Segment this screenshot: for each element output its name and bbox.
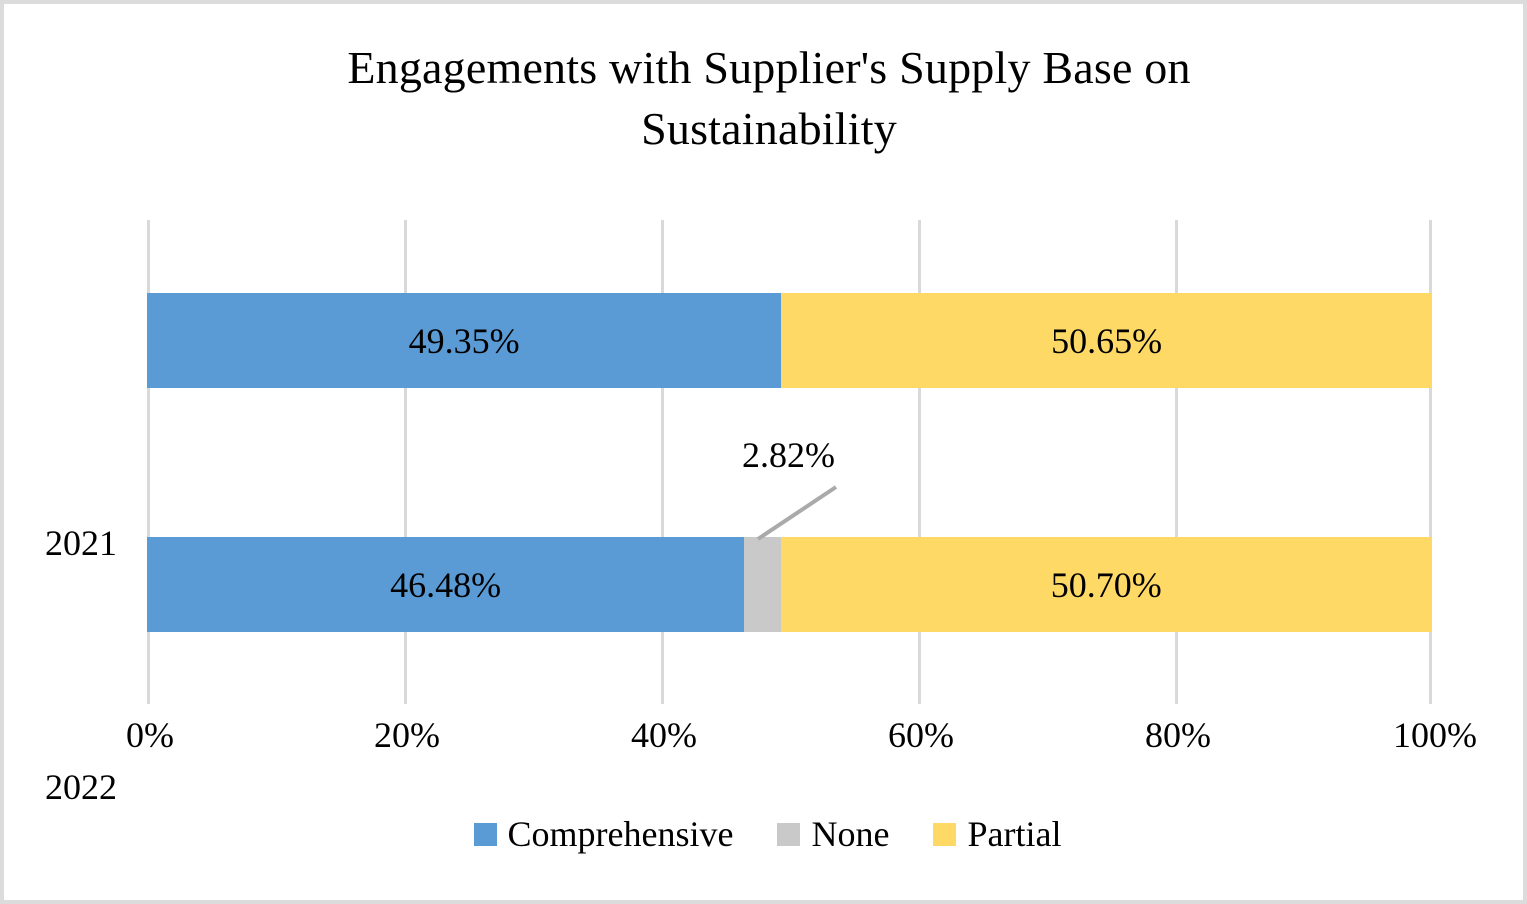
bar-label-2021-comprehensive: 49.35% [409, 323, 520, 359]
legend-item-partial[interactable]: Partial [933, 816, 1061, 852]
x-tick-label-20: 20% [327, 716, 487, 756]
chart-title: Engagements with Supplier's Supply Base … [164, 38, 1374, 159]
bar-label-2022-comprehensive: 46.48% [390, 567, 501, 603]
legend-item-comprehensive[interactable]: Comprehensive [474, 816, 734, 852]
legend-label-comprehensive: Comprehensive [508, 816, 734, 852]
legend-label-partial: Partial [967, 816, 1061, 852]
chart-legend: Comprehensive None Partial [4, 816, 1527, 852]
legend-item-none[interactable]: None [777, 816, 889, 852]
bar-label-2022-partial: 50.70% [1051, 567, 1162, 603]
bar-segment-2021-comprehensive[interactable]: 49.35% [147, 293, 781, 388]
y-axis-category-labels: 2021 2022 [4, 220, 147, 704]
bar-segment-2022-none[interactable]: 2.82% [744, 537, 780, 632]
legend-swatch-comprehensive-icon [474, 823, 497, 846]
plot-area: 49.35% 50.65% 46.48% 2.82% 50.70% [147, 220, 1432, 704]
x-tick-label-80: 80% [1098, 716, 1258, 756]
x-axis-tick-labels: 0% 20% 40% 60% 80% 100% [4, 716, 1527, 768]
bar-label-2021-partial: 50.65% [1051, 323, 1162, 359]
bar-row-2022: 46.48% 2.82% 50.70% [147, 537, 1432, 632]
y-axis-label-2022: 2022 [15, 769, 147, 805]
x-tick-label-60: 60% [841, 716, 1001, 756]
legend-swatch-partial-icon [933, 823, 956, 846]
chart-title-line-2: Sustainability [164, 99, 1374, 160]
x-tick-label-100: 100% [1355, 716, 1515, 756]
bar-segment-2021-partial[interactable]: 50.65% [781, 293, 1432, 388]
x-tick-label-0: 0% [70, 716, 230, 756]
x-tick-label-40: 40% [584, 716, 744, 756]
chart-container: Engagements with Supplier's Supply Base … [0, 0, 1527, 904]
y-axis-label-2021: 2021 [15, 525, 147, 561]
legend-swatch-none-icon [777, 823, 800, 846]
chart-title-line-1: Engagements with Supplier's Supply Base … [164, 38, 1374, 99]
legend-label-none: None [811, 816, 889, 852]
bar-segment-2022-partial[interactable]: 50.70% [781, 537, 1432, 632]
bar-segment-2022-comprehensive[interactable]: 46.48% [147, 537, 744, 632]
bar-row-2021: 49.35% 50.65% [147, 293, 1432, 388]
